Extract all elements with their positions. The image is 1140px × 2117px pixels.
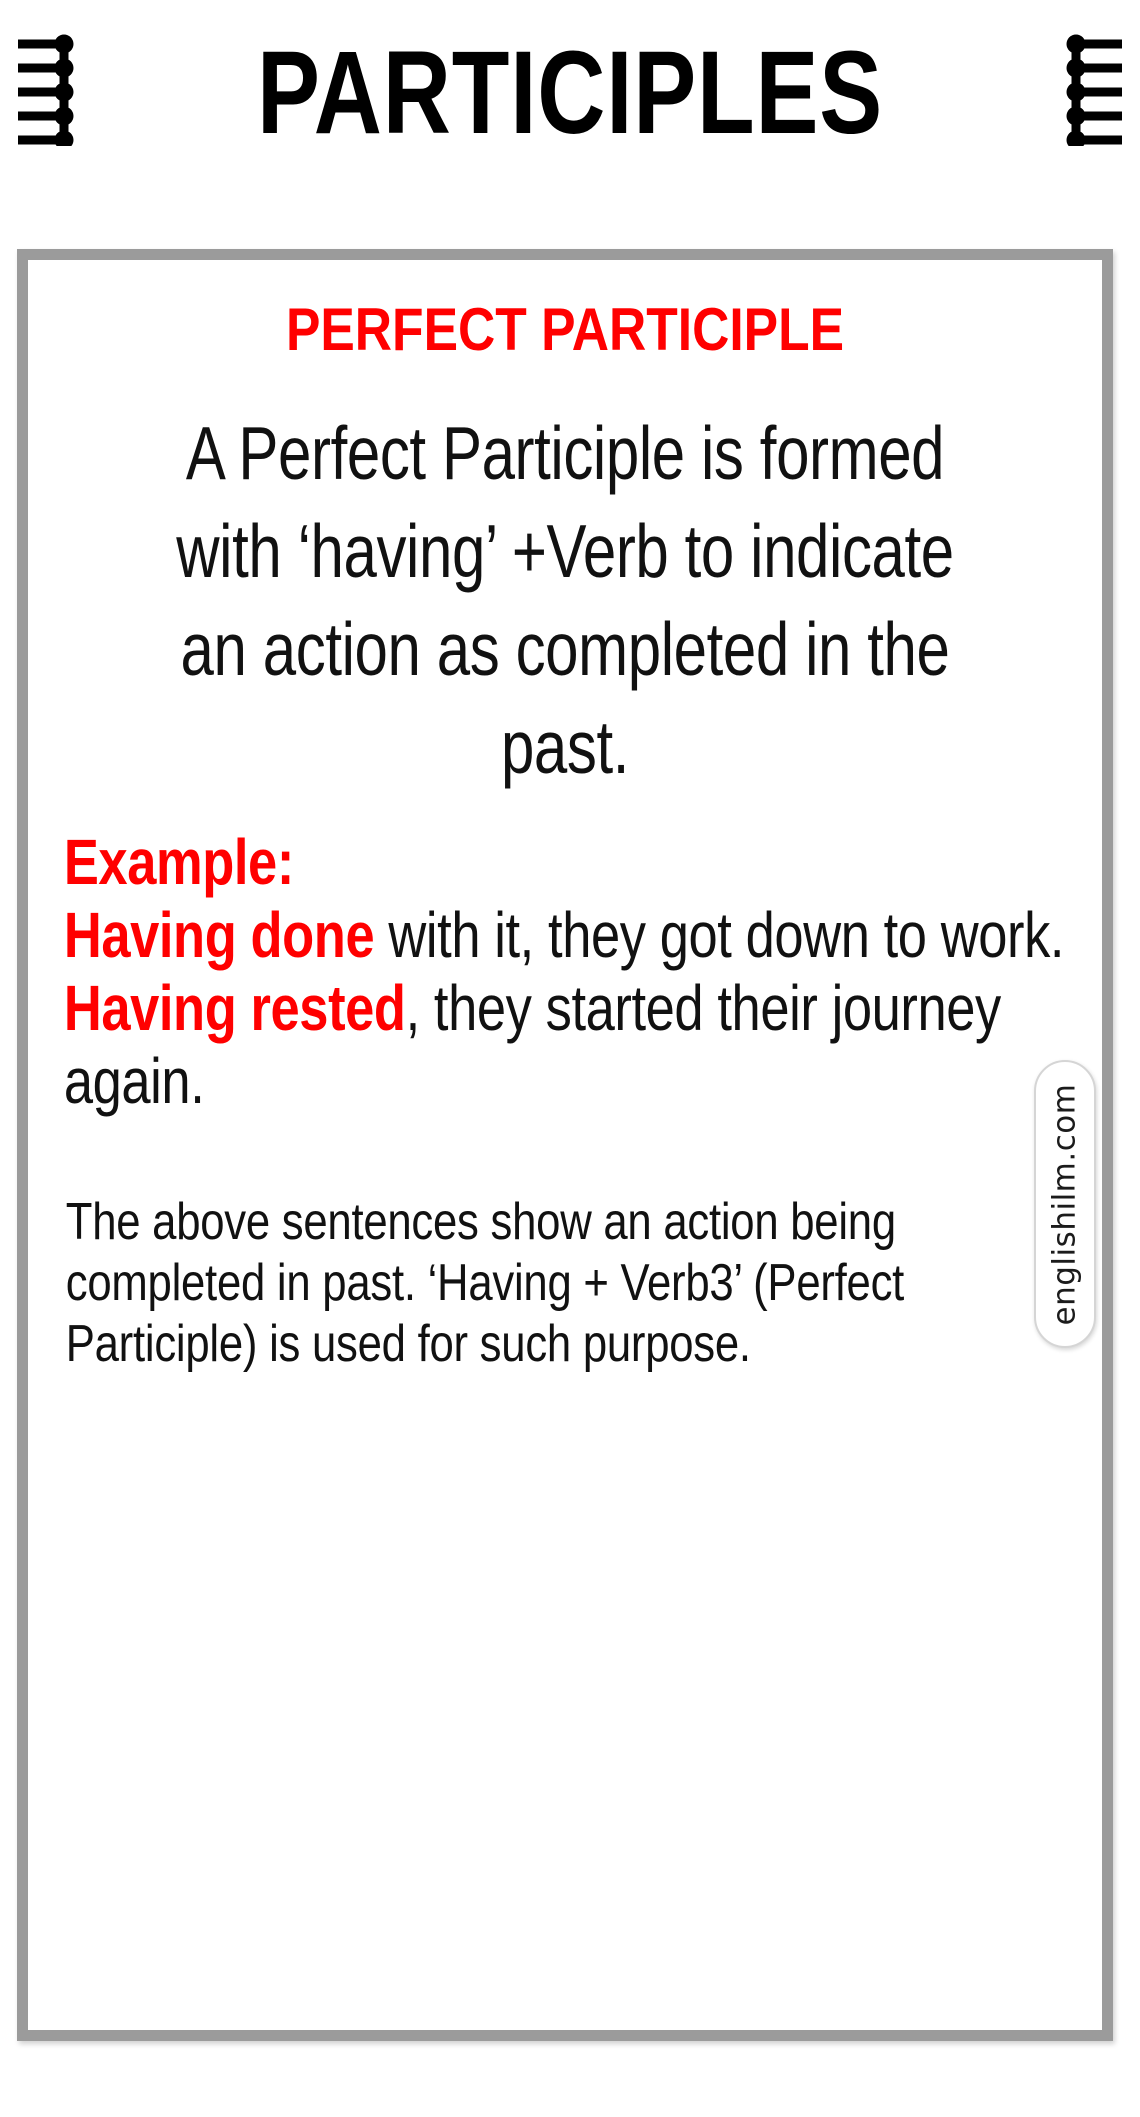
comb-binding-left-icon xyxy=(14,34,76,146)
examples-block: Example: Having done with it, they got d… xyxy=(54,826,1076,1118)
example-item: Having rested, they started their journe… xyxy=(64,972,1077,1118)
examples-label: Example: xyxy=(64,826,1077,899)
comb-binding-right-icon xyxy=(1064,34,1126,146)
definition-text: A Perfect Participle is formed with ‘hav… xyxy=(156,404,974,796)
content-card: PERFECT PARTICIPLE A Perfect Participle … xyxy=(17,249,1113,2041)
card-inner: PERFECT PARTICIPLE A Perfect Participle … xyxy=(28,260,1102,2030)
example-item: Having done with it, they got down to wo… xyxy=(64,899,1077,972)
watermark-text: englishilm.com xyxy=(1050,1083,1081,1325)
example-highlight: Having rested xyxy=(64,972,406,1044)
page-title: PARTICIPLES xyxy=(114,34,1026,152)
watermark-badge: englishilm.com xyxy=(1034,1060,1096,1348)
page-header: PARTICIPLES xyxy=(0,0,1140,180)
example-rest: with it, they got down to work. xyxy=(374,899,1064,971)
section-heading: PERFECT PARTICIPLE xyxy=(126,294,1005,366)
explanation-note: The above sentences show an action being… xyxy=(54,1192,1076,1375)
example-highlight: Having done xyxy=(64,899,374,971)
